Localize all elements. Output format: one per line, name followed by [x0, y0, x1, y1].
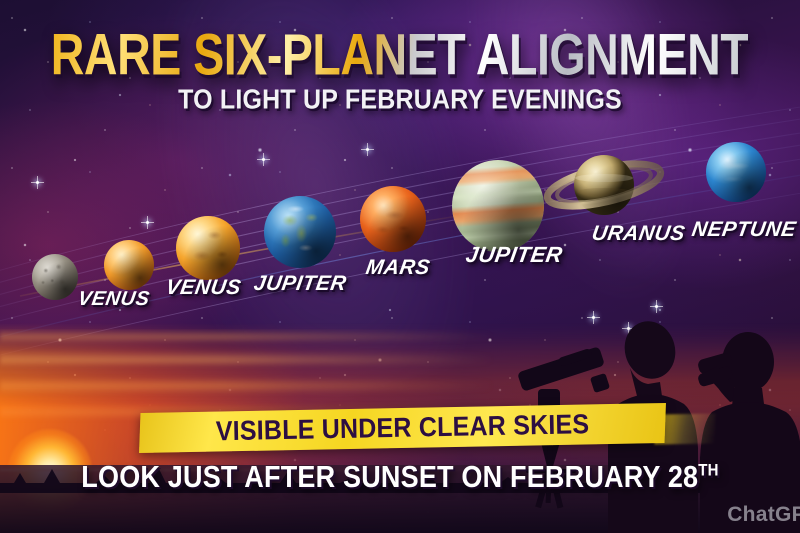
planet-label-mars: MARS [364, 256, 432, 280]
crater-texture [32, 254, 78, 300]
planet-shading [176, 216, 240, 280]
planet-label-venus-1: VENUS [76, 288, 151, 311]
chatgpt-watermark: ChatGP [727, 503, 800, 527]
cta-main: LOOK JUST AFTER SUNSET ON FEBRUARY 28 [81, 460, 698, 494]
planet-shading [452, 160, 544, 252]
planet-label-neptune: NEPTUNE [690, 218, 798, 242]
call-to-action-text: LOOK JUST AFTER SUNSET ON FEBRUARY 28TH [0, 460, 800, 495]
planet-shading [706, 142, 766, 202]
planet-earth-blue [264, 196, 336, 268]
planet-shading [104, 240, 154, 290]
planet-venus-1 [104, 240, 154, 290]
planet-venus-2 [176, 216, 240, 280]
planet-shading [360, 186, 426, 252]
cta-ordinal-suffix: TH [698, 461, 718, 480]
planet-mercury-grey [32, 254, 78, 300]
planet-shading [574, 155, 634, 215]
title-container: RARE SIX-PLANET ALIGNMENT [0, 22, 800, 77]
planet-label-earth: JUPITER [252, 272, 348, 296]
planet-jupiter-big [452, 160, 544, 252]
infographic-poster: VENUS VENUS JUPITER MARS JUPITER URANUS … [0, 0, 800, 533]
planet-label-uranus: URANUS [590, 222, 687, 246]
page-title: RARE SIX-PLANET ALIGNMENT [51, 22, 748, 89]
planet-label-venus-2: VENUS [164, 276, 243, 300]
planet-shading [264, 196, 336, 268]
planet-mars-red [360, 186, 426, 252]
page-subtitle: TO LIGHT UP FEBRUARY EVENINGS [0, 84, 800, 116]
planet-label-jupiter: JUPITER [464, 242, 565, 268]
banner-label: VISIBLE UNDER CLEAR SKIES [215, 408, 589, 447]
planet-saturn-rings [540, 140, 668, 230]
planet-neptune-blue [706, 142, 766, 202]
